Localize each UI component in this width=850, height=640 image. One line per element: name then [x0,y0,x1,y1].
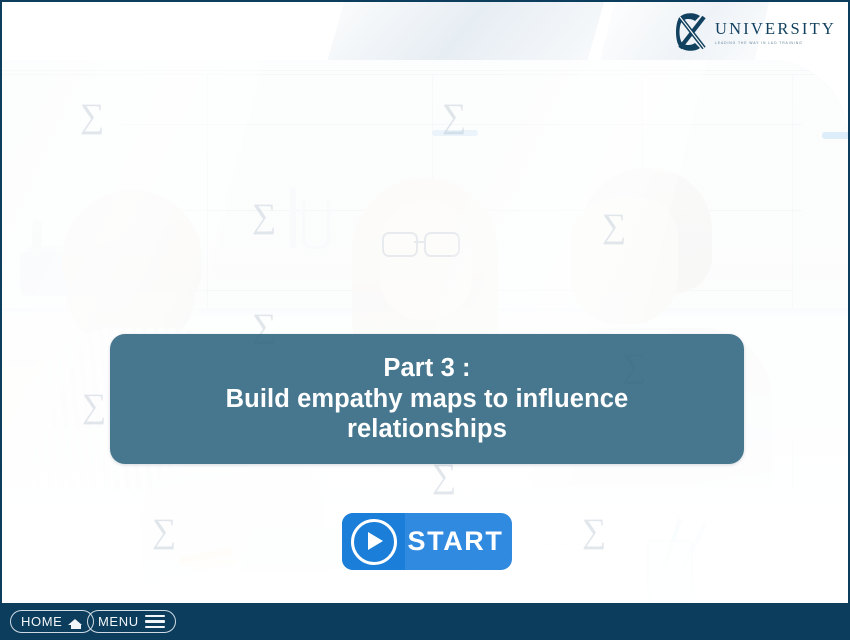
title-line-2: Build empathy maps to influence [226,384,629,415]
logo-text-block: UNIVERSITY LEADING THE WAY IN L&D TRAINI… [715,21,836,45]
house-icon [68,615,83,629]
start-button-icon-panel [342,513,405,570]
play-circle-icon [351,519,397,565]
start-button-label: START [405,526,512,557]
title-line-1: Part 3 : [383,353,470,384]
header-bar: UNIVERSITY LEADING THE WAY IN L&D TRAINI… [2,2,848,60]
slide-frame: UNIVERSITY LEADING THE WAY IN L&D TRAINI… [2,2,848,638]
course-slide: UNIVERSITY LEADING THE WAY IN L&D TRAINI… [0,0,850,640]
menu-button-label: MENU [98,614,139,629]
header-sheen [309,2,604,60]
content-panel: ∑ ∑ ∑ ∑ ∑ ∑ ∑ ∑ ∑ ∑ Part 3 : Build empat… [2,60,848,603]
home-button[interactable]: HOME [10,610,94,633]
slide-title-card: Part 3 : Build empathy maps to influence… [110,334,744,464]
logo-tagline: LEADING THE WAY IN L&D TRAINING [715,41,836,45]
title-line-3: relationships [347,414,507,445]
start-button[interactable]: START [342,513,512,570]
hamburger-icon [145,615,165,628]
bottom-navigation-bar: HOME MENU [2,603,848,638]
menu-button[interactable]: MENU [87,610,176,633]
university-logo[interactable]: UNIVERSITY LEADING THE WAY IN L&D TRAINI… [673,10,836,54]
x-monogram-icon [673,12,713,52]
home-button-label: HOME [21,614,62,629]
logo-word: UNIVERSITY [715,21,836,38]
